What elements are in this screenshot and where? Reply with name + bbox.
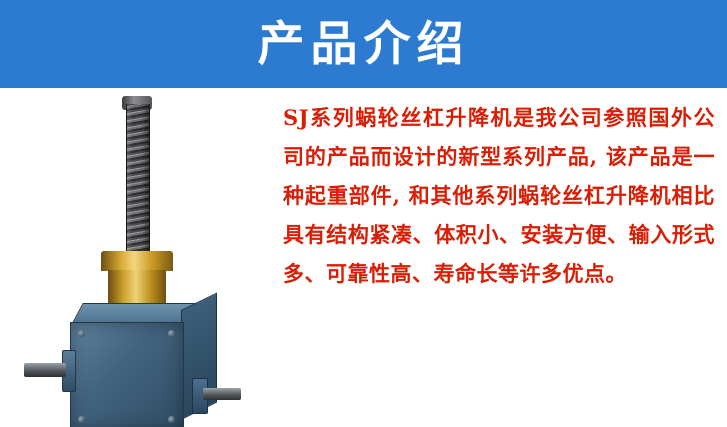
content-area: SJ系列蜗轮丝杠升降机是我公司参照国外公司的产品而设计的新型系列产品, 该产品是… — [0, 88, 727, 427]
housing-bolt-icon — [78, 330, 85, 337]
screw-jack-illustration — [0, 88, 278, 427]
gearbox-housing-icon — [70, 322, 184, 427]
page-title: 产品介绍 — [258, 21, 470, 68]
housing-bolt-icon — [78, 416, 85, 423]
housing-bolt-icon — [168, 330, 175, 337]
product-introduction-page: 产品介绍 — [0, 0, 727, 427]
housing-bolt-icon — [168, 416, 175, 423]
input-shaft-left-icon — [24, 363, 66, 377]
product-description: SJ系列蜗轮丝杠升降机是我公司参照国外公司的产品而设计的新型系列产品, 该产品是… — [283, 98, 715, 293]
header-banner: 产品介绍 — [0, 0, 727, 88]
brass-collar-top-icon — [101, 251, 173, 271]
input-shaft-right-icon — [203, 388, 241, 400]
product-description-text: SJ系列蜗轮丝杠升降机是我公司参照国外公司的产品而设计的新型系列产品, 该产品是… — [283, 98, 715, 293]
product-image — [0, 88, 278, 427]
